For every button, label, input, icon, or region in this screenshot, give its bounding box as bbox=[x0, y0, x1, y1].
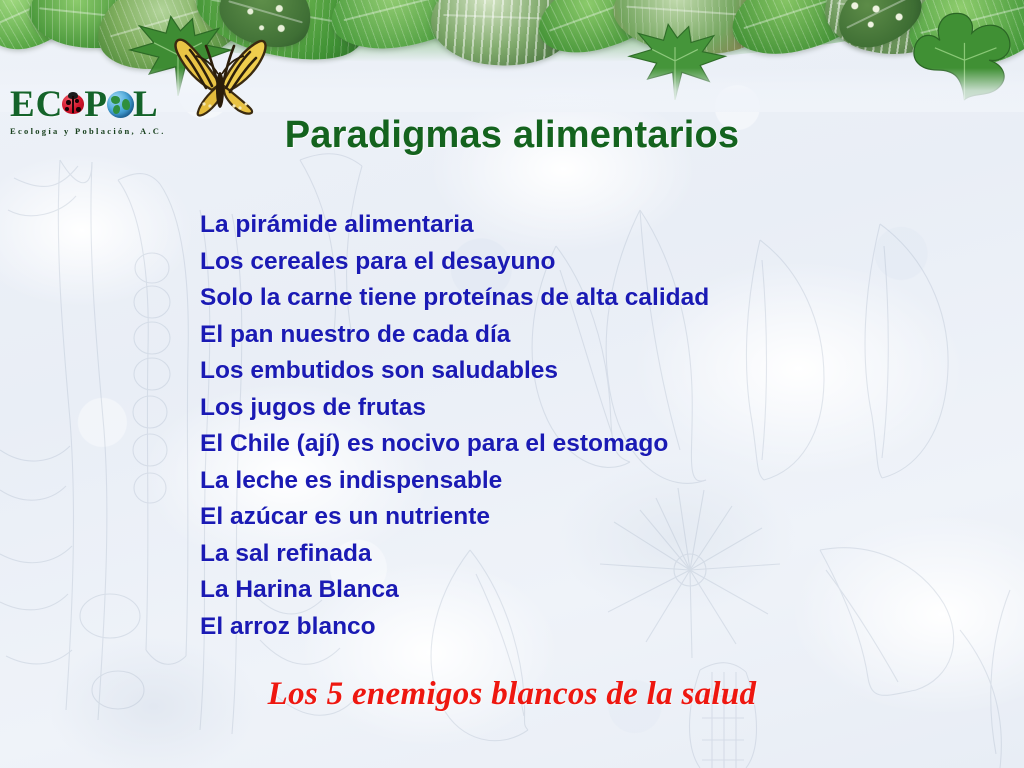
list-item: Los jugos de frutas bbox=[200, 390, 960, 427]
page-title-text: Paradigmas alimentarios bbox=[285, 114, 739, 156]
page-title: Paradigmas alimentarios bbox=[0, 114, 1024, 157]
ladybug-icon bbox=[60, 93, 86, 116]
list-item: Los embutidos son saludables bbox=[200, 353, 960, 390]
presentation-slide: EC P L Ecología y Población, A.C. Paradi… bbox=[0, 0, 1024, 768]
list-item: Los cereales para el desayuno bbox=[200, 244, 960, 281]
list-item: El azúcar es un nutriente bbox=[200, 499, 960, 536]
list-item: La sal refinada bbox=[200, 536, 960, 573]
paradigm-list: La pirámide alimentaria Los cereales par… bbox=[200, 207, 960, 645]
list-item: La pirámide alimentaria bbox=[200, 207, 960, 244]
list-item: Solo la carne tiene proteínas de alta ca… bbox=[200, 280, 960, 317]
footer-highlight: Los 5 enemigos blancos de la salud bbox=[0, 676, 1024, 713]
list-item: La Harina Blanca bbox=[200, 572, 960, 609]
list-item: El pan nuestro de cada día bbox=[200, 317, 960, 354]
list-item: El Chile (ají) es nocivo para el estomag… bbox=[200, 426, 960, 463]
footer-text: Los 5 enemigos blancos de la salud bbox=[268, 676, 757, 712]
list-item: La leche es indispensable bbox=[200, 463, 960, 500]
list-item: El arroz blanco bbox=[200, 609, 960, 646]
